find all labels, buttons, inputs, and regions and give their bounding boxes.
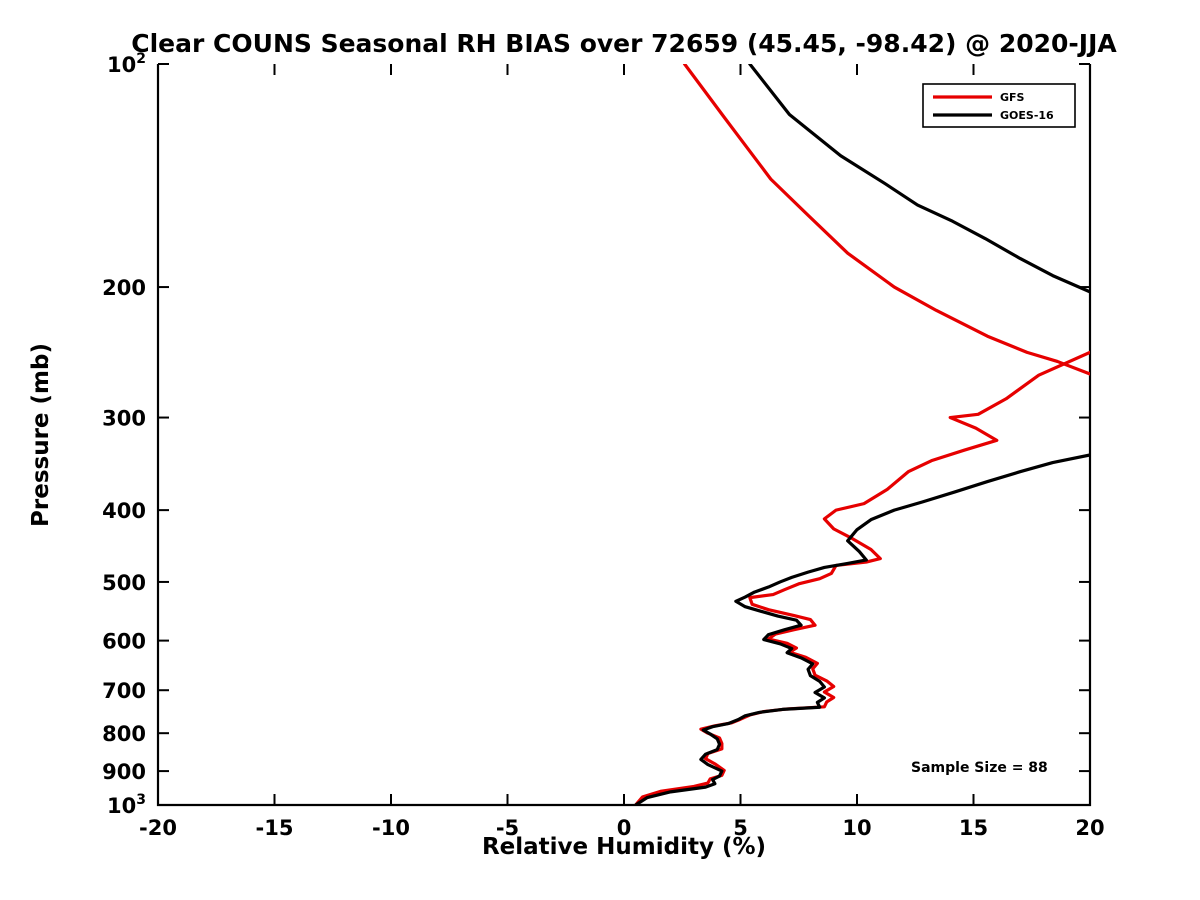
y-tick-label-500: 500 <box>102 571 146 595</box>
x-tick-label-10: 10 <box>842 816 871 840</box>
x-tick-label--10: -10 <box>372 816 410 840</box>
x-axis-label: Relative Humidity (%) <box>482 834 766 860</box>
sample-size-annotation: Sample Size = 88 <box>911 760 1048 776</box>
legend-label-goes16: GOES-16 <box>1000 109 1054 122</box>
y-tick-label-600: 600 <box>102 630 146 654</box>
chart-title: Clear COUNS Seasonal RH BIAS over 72659 … <box>131 29 1117 58</box>
y-tick-label-800: 800 <box>102 722 146 746</box>
chart-legend[interactable]: GFS GOES-16 <box>923 84 1075 127</box>
y-tick-label-700: 700 <box>102 679 146 703</box>
y-tick-label-400: 400 <box>102 499 146 523</box>
x-tick-label--20: -20 <box>139 816 177 840</box>
figure-canvas: Clear COUNS Seasonal RH BIAS over 72659 … <box>0 0 1200 900</box>
legend-label-gfs: GFS <box>1000 91 1025 104</box>
x-tick-label-20: 20 <box>1075 816 1104 840</box>
y-axis-label: Pressure (mb) <box>28 343 54 527</box>
y-tick-label-200: 200 <box>102 276 146 300</box>
y-tick-label-300: 300 <box>102 407 146 431</box>
x-tick-label--15: -15 <box>256 816 294 840</box>
rh-bias-profile-chart: Clear COUNS Seasonal RH BIAS over 72659 … <box>0 0 1200 900</box>
y-tick-label-900: 900 <box>102 760 146 784</box>
x-tick-label-15: 15 <box>959 816 988 840</box>
